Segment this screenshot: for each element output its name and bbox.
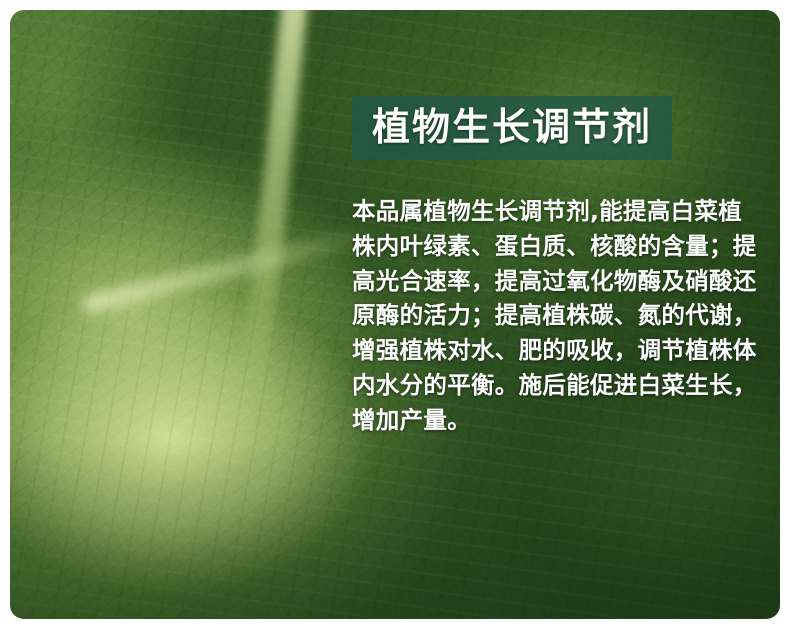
leaf-side-vein-icon	[82, 224, 377, 314]
bottom-vignette	[10, 439, 780, 619]
page-title: 植物生长调节剂	[372, 108, 652, 146]
product-description: 本品属植物生长调节剂,能提高白菜植株内叶绿素、蛋白质、核酸的含量；提高光合速率，…	[352, 194, 757, 437]
product-banner: 植物生长调节剂 本品属植物生长调节剂,能提高白菜植株内叶绿素、蛋白质、核酸的含量…	[0, 0, 790, 629]
title-plate: 植物生长调节剂	[352, 96, 672, 160]
leaf-midrib-icon	[240, 10, 310, 400]
text-content-block: 植物生长调节剂 本品属植物生长调节剂,能提高白菜植株内叶绿素、蛋白质、核酸的含量…	[352, 96, 752, 437]
